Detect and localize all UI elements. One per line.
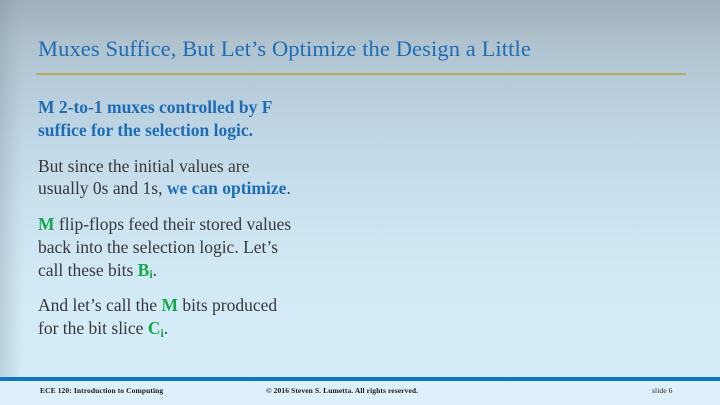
paragraph-3-text-tail: . [153,260,157,280]
paragraph-4-symbol-m: M [161,295,178,315]
top-edge-shading [0,0,720,40]
paragraph-4-symbol-c: Ci [148,318,164,338]
paragraph-1-text: M 2-to-1 muxes controlled by F suffice f… [38,97,272,140]
title-divider-rule [36,73,686,75]
symbol-b-subscript: i [149,267,152,281]
body-paragraph-4: And let’s call the M bits produced for t… [38,294,658,340]
footer-copyright-label: © 2016 Steven S. Lumetta. All rights res… [266,386,418,395]
body-paragraph-1: M 2-to-1 muxes controlled by F suffice f… [38,96,658,142]
body-paragraph-2: But since the initial values are usually… [38,155,658,201]
footer-slide-number: slide 6 [652,386,673,395]
slide-canvas: Muxes Suffice, But Let’s Optimize the De… [0,0,720,405]
left-edge-shading [0,0,26,405]
symbol-c-subscript: i [160,326,163,340]
symbol-b-letter: B [138,260,150,280]
paragraph-2-emphasis: we can optimize [167,178,287,198]
footer-course-label: ECE 120: Introduction to Computing [40,386,163,395]
paragraph-3-symbol-b: Bi [138,260,153,280]
symbol-c-letter: C [148,318,161,338]
slide-title: Muxes Suffice, But Let’s Optimize the De… [38,36,688,62]
body-paragraph-3: M flip-flops feed their stored values ba… [38,213,658,281]
slide-body: M 2-to-1 muxes controlled by F suffice f… [38,96,658,352]
paragraph-4-text-lead: And let’s call the [38,295,161,315]
paragraph-3-symbol-m: M [38,214,55,234]
paragraph-2-text-tail: . [286,178,290,198]
paragraph-3-text: flip-flops feed their stored values back… [38,214,291,280]
paragraph-4-text-tail: . [164,318,168,338]
